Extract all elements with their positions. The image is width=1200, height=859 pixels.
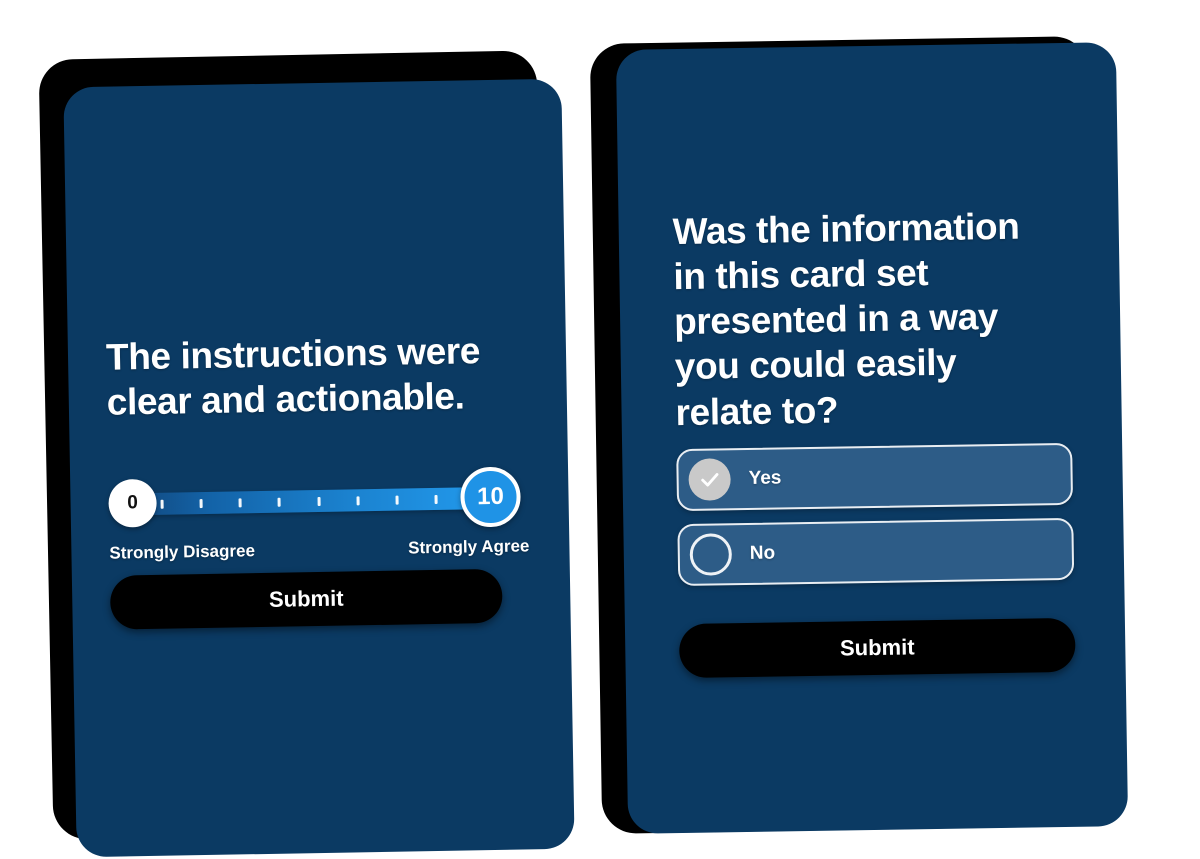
yes-no-option-list: Yes No [676,443,1074,599]
slider-tick [161,499,164,508]
survey-cards-stage: The instructions were clear and actionab… [0,0,1200,859]
slider-tick [356,496,359,505]
slider-max-label: Strongly Agree [408,536,530,558]
option-row-yes[interactable]: Yes [676,443,1073,511]
rating-card: The instructions were clear and actionab… [46,55,586,850]
rating-submit-button[interactable]: Submit [110,569,503,630]
rating-card-question: The instructions were clear and actionab… [106,327,538,425]
slider-tick [317,496,320,505]
option-row-no[interactable]: No [677,518,1074,586]
yes-no-submit-button[interactable]: Submit [679,618,1076,678]
rating-card-surface: The instructions were clear and actionab… [63,79,574,858]
slider-scale-labels: Strongly Disagree Strongly Agree [109,536,529,563]
empty-circle-icon [689,533,732,576]
option-label-no: No [750,543,776,565]
slider-min-handle[interactable]: 0 [108,479,157,528]
slider-max-handle[interactable]: 10 [460,466,521,527]
rating-slider[interactable]: 0 10 Strongly Disagree Strongly Agree [108,460,530,572]
check-icon [688,458,731,501]
yes-no-card-surface: Was the information in this card set pre… [616,42,1128,834]
slider-tick [239,498,242,507]
option-label-yes: Yes [748,467,781,490]
slider-tick [278,497,281,506]
slider-min-label: Strongly Disagree [109,541,255,564]
slider-tick [395,495,398,504]
yes-no-card: Was the information in this card set pre… [596,30,1156,845]
slider-tick [434,494,437,503]
yes-no-card-question: Was the information in this card set pre… [672,203,1075,435]
slider-tick [200,499,203,508]
